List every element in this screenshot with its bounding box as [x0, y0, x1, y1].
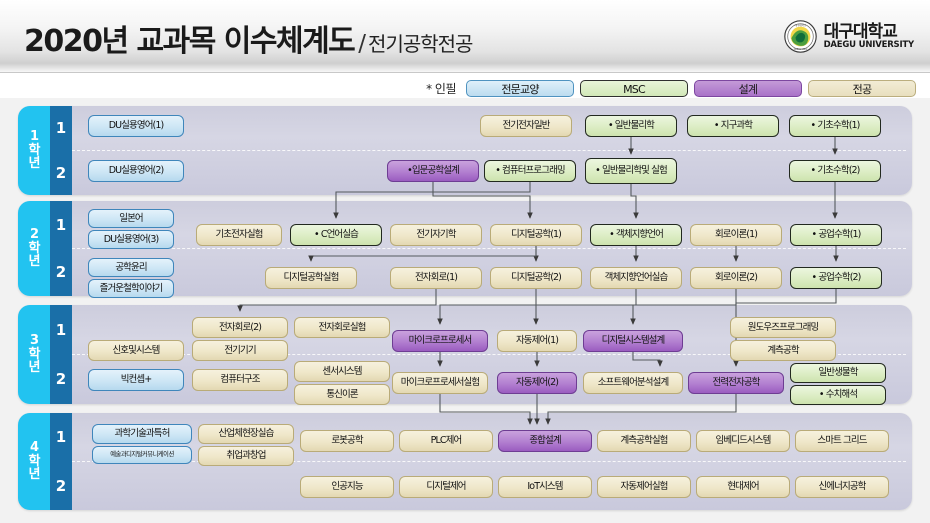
- university-name-kr: 대구대학교: [824, 24, 914, 41]
- course-box-c33[interactable]: 마이크로프로세서: [392, 330, 488, 352]
- course-box-c02[interactable]: 전기전자일반: [480, 115, 572, 137]
- semester-column-2: 1 2: [50, 201, 72, 296]
- year-tab-2: 2학년: [18, 201, 50, 296]
- course-box-c37[interactable]: 빅컨셉+: [88, 369, 184, 391]
- legend-chip-design[interactable]: 설계: [694, 80, 802, 97]
- legend-bar: * 인필 전문교양 MSC 설계 전공: [0, 78, 930, 98]
- course-box-c55[interactable]: 임베디드시스템: [696, 430, 790, 452]
- course-box-c23[interactable]: 전자회로(1): [390, 267, 482, 289]
- year-tab-1: 1학년: [18, 106, 50, 195]
- course-box-c10[interactable]: • 기초수학(2): [789, 160, 881, 182]
- course-box-c13[interactable]: 기초전자실험: [196, 224, 282, 246]
- course-box-c22[interactable]: 디지털공학실험: [265, 267, 357, 289]
- semester-cell-1-2: 2: [50, 151, 72, 196]
- course-box-c14[interactable]: • C언어실습: [290, 224, 382, 246]
- course-box-c01[interactable]: DU실용영어(1): [88, 115, 184, 137]
- course-box-c03[interactable]: • 일반물리학: [585, 115, 677, 137]
- course-box-c51[interactable]: 로봇공학: [300, 430, 394, 452]
- page-title: 2020년 교과목 이수체계도/전기공학전공: [24, 16, 472, 60]
- course-box-c31[interactable]: 신호및시스템: [88, 340, 184, 361]
- course-box-c59[interactable]: IoT시스템: [498, 476, 592, 498]
- course-box-c62[interactable]: 신에너지공학: [795, 476, 889, 498]
- course-box-c21[interactable]: 즐거운철학이야기: [88, 279, 174, 298]
- university-logo: 대구대학교 DAEGU UNIV 대구대학교 DAEGU UNIVERSITY: [784, 20, 914, 53]
- course-box-c12[interactable]: DU실용영어(3): [88, 230, 174, 249]
- course-box-c50[interactable]: 취업과창업: [198, 446, 294, 466]
- course-box-c38[interactable]: 컴퓨터구조: [192, 369, 288, 391]
- legend-chip-msc[interactable]: MSC: [580, 80, 688, 97]
- course-box-c54[interactable]: 계측공학실험: [597, 430, 691, 452]
- year-label-1: 1학년: [29, 130, 40, 171]
- course-box-c06[interactable]: DU실용영어(2): [88, 160, 184, 182]
- year-tab-4: 4학년: [18, 413, 50, 510]
- title-separator: /: [358, 31, 366, 57]
- course-box-c08[interactable]: • 컴퓨터프로그래밍: [484, 160, 576, 182]
- course-box-c40[interactable]: 통신이론: [294, 384, 390, 405]
- course-box-c41[interactable]: 마이크로프로세서실험: [392, 372, 488, 394]
- semester-cell-2-1: 1: [50, 201, 72, 249]
- course-box-c09[interactable]: • 일반물리학및 실험: [585, 158, 677, 184]
- course-box-c43[interactable]: 소프트웨어분석설계: [583, 372, 683, 394]
- course-box-c53[interactable]: 종합설계: [498, 430, 592, 452]
- course-box-c16[interactable]: 디지털공학(1): [490, 224, 582, 246]
- course-box-c58[interactable]: 디지털제어: [399, 476, 493, 498]
- course-box-c17[interactable]: • 객체지향언어: [590, 224, 682, 246]
- course-box-c61[interactable]: 현대제어: [696, 476, 790, 498]
- course-box-c30[interactable]: 원도우즈프로그래밍: [730, 317, 836, 338]
- course-box-c56[interactable]: 스마트 그리드: [795, 430, 889, 452]
- course-box-c27[interactable]: • 공업수학(2): [790, 267, 882, 289]
- year-2-divider: [72, 248, 906, 249]
- svg-text:대구대학교: 대구대학교: [794, 23, 806, 27]
- semester-cell-3-2: 2: [50, 355, 72, 405]
- svg-text:DAEGU UNIV: DAEGU UNIV: [793, 48, 807, 51]
- year-1-divider: [72, 150, 906, 151]
- course-box-c44[interactable]: 전력전자공학: [688, 372, 784, 394]
- course-box-c60[interactable]: 자동제어실험: [597, 476, 691, 498]
- course-box-c28[interactable]: 전자회로(2): [192, 317, 288, 338]
- university-name-en: DAEGU UNIVERSITY: [824, 41, 914, 50]
- course-box-c46[interactable]: • 수치해석: [790, 385, 886, 405]
- course-box-c25[interactable]: 객체지향언어실습: [590, 267, 682, 289]
- course-box-c04[interactable]: • 지구과학: [687, 115, 779, 137]
- course-box-c36[interactable]: 계측공학: [730, 340, 836, 361]
- semester-cell-3-1: 1: [50, 305, 72, 355]
- course-box-c32[interactable]: 전기기기: [192, 340, 288, 361]
- semester-cell-1-1: 1: [50, 106, 72, 151]
- course-box-c42[interactable]: 자동제어(2): [497, 372, 577, 394]
- year-label-3: 3학년: [29, 334, 40, 375]
- page-header: 2020년 교과목 이수체계도/전기공학전공 대구대학교 DAEGU UNIV …: [0, 0, 930, 73]
- semester-cell-2-2: 2: [50, 249, 72, 297]
- semester-column-3: 1 2: [50, 305, 72, 404]
- year-label-4: 4학년: [29, 441, 40, 482]
- course-box-c11[interactable]: 일본어: [88, 209, 174, 228]
- course-box-c45[interactable]: 일반생물학: [790, 363, 886, 383]
- title-main: 2020년 교과목 이수체계도: [24, 24, 354, 59]
- course-box-c35[interactable]: 디지털시스템설계: [583, 330, 683, 352]
- course-box-c07[interactable]: •입문공학설계: [387, 160, 479, 182]
- course-box-c49[interactable]: 산업체현장실습: [198, 424, 294, 444]
- course-box-c26[interactable]: 회로이론(2): [690, 267, 782, 289]
- course-box-c39[interactable]: 센서시스템: [294, 361, 390, 382]
- course-box-c48[interactable]: 예술과디지털커뮤니케이션: [92, 446, 192, 464]
- year-tab-3: 3학년: [18, 305, 50, 404]
- semester-column-1: 1 2: [50, 106, 72, 195]
- daegu-university-emblem-icon: 대구대학교 DAEGU UNIV: [784, 20, 817, 53]
- year-4-divider: [72, 461, 906, 462]
- year-label-2: 2학년: [29, 228, 40, 269]
- legend-note: * 인필: [426, 80, 456, 97]
- course-box-c34[interactable]: 자동제어(1): [497, 330, 577, 352]
- semester-cell-4-1: 1: [50, 413, 72, 462]
- legend-chip-major[interactable]: 전공: [808, 80, 916, 97]
- legend-chip-liberal-arts[interactable]: 전문교양: [466, 80, 574, 97]
- course-box-c52[interactable]: PLC제어: [399, 430, 493, 452]
- course-box-c18[interactable]: 회로이론(1): [690, 224, 782, 246]
- course-box-c29[interactable]: 전자회로실험: [294, 317, 390, 338]
- course-box-c20[interactable]: 공학윤리: [88, 258, 174, 277]
- course-box-c15[interactable]: 전기자기학: [390, 224, 482, 246]
- course-box-c19[interactable]: • 공업수학(1): [790, 224, 882, 246]
- course-box-c05[interactable]: • 기초수학(1): [789, 115, 881, 137]
- course-box-c47[interactable]: 과학기술과특허: [92, 424, 192, 444]
- course-box-c57[interactable]: 인공지능: [300, 476, 394, 498]
- semester-cell-4-2: 2: [50, 462, 72, 511]
- semester-column-4: 1 2: [50, 413, 72, 510]
- title-subtitle: 전기공학전공: [368, 32, 472, 56]
- course-box-c24[interactable]: 디지털공학(2): [490, 267, 582, 289]
